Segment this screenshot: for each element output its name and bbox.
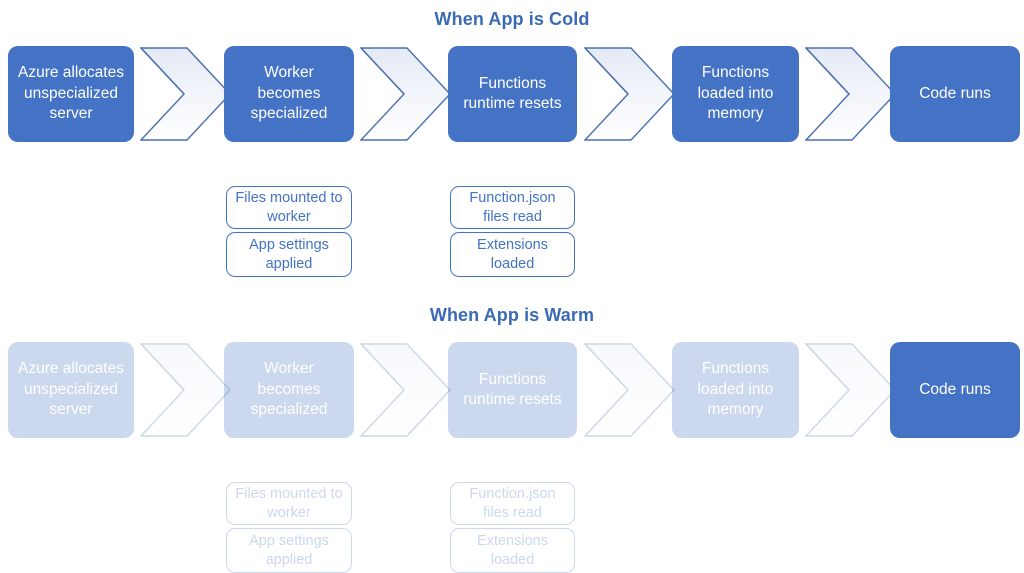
section-title-warm: When App is Warm [0,305,1024,326]
step-label: Worker becomes specialized [232,359,346,420]
sub-box-cold-2-2[interactable]: App settings applied [226,232,352,277]
step-box-cold-2[interactable]: Worker becomes specialized [224,46,354,142]
section-title-cold: When App is Cold [0,9,1024,30]
flow-row-warm: Azure allocates unspecialized server Wor… [0,342,1024,442]
step-box-cold-1[interactable]: Azure allocates unspecialized server [8,46,134,142]
sub-box-label: Function.json files read [455,189,570,227]
double-chevron-right-icon [140,342,232,438]
double-chevron-right-icon [805,342,897,438]
double-chevron-right-icon [584,46,676,142]
sub-box-label: App settings applied [231,236,347,274]
step-label: Worker becomes specialized [232,63,346,124]
double-chevron-right-icon [360,342,452,438]
double-chevron-right-icon [805,46,897,142]
sub-box-cold-2-1[interactable]: Files mounted to worker [226,186,352,229]
sub-box-label: App settings applied [231,532,347,570]
step-box-warm-4[interactable]: Functions loaded into memory [672,342,799,438]
step-box-cold-3[interactable]: Functions runtime resets [448,46,577,142]
step-label: Code runs [919,380,991,400]
sub-box-warm-3-1[interactable]: Function.json files read [450,482,575,525]
step-label: Functions runtime resets [456,370,569,411]
double-chevron-right-icon [140,46,232,142]
sub-box-label: Files mounted to worker [231,485,347,523]
step-label: Azure allocates unspecialized server [16,359,126,420]
step-box-warm-3[interactable]: Functions runtime resets [448,342,577,438]
section-when-app-is-cold: When App is Cold Azure allocates unspeci… [0,0,1024,296]
sub-box-label: Function.json files read [455,485,570,523]
flow-row-cold: Azure allocates unspecialized server Wor… [0,46,1024,146]
double-chevron-right-icon [360,46,452,142]
sub-box-cold-3-2[interactable]: Extensions loaded [450,232,575,277]
section-when-app-is-warm: When App is Warm Azure allocates unspeci… [0,296,1024,535]
step-label: Functions loaded into memory [680,63,791,124]
sub-box-warm-2-1[interactable]: Files mounted to worker [226,482,352,525]
step-box-warm-5[interactable]: Code runs [890,342,1020,438]
double-chevron-right-icon [584,342,676,438]
sub-box-label: Extensions loaded [455,532,570,570]
sub-box-cold-3-1[interactable]: Function.json files read [450,186,575,229]
sub-box-label: Extensions loaded [455,236,570,274]
step-label: Azure allocates unspecialized server [16,63,126,124]
step-label: Functions runtime resets [456,74,569,115]
step-box-warm-2[interactable]: Worker becomes specialized [224,342,354,438]
step-box-warm-1[interactable]: Azure allocates unspecialized server [8,342,134,438]
step-box-cold-4[interactable]: Functions loaded into memory [672,46,799,142]
step-label: Functions loaded into memory [680,359,791,420]
sub-box-label: Files mounted to worker [231,189,347,227]
step-box-cold-5[interactable]: Code runs [890,46,1020,142]
step-label: Code runs [919,84,991,104]
